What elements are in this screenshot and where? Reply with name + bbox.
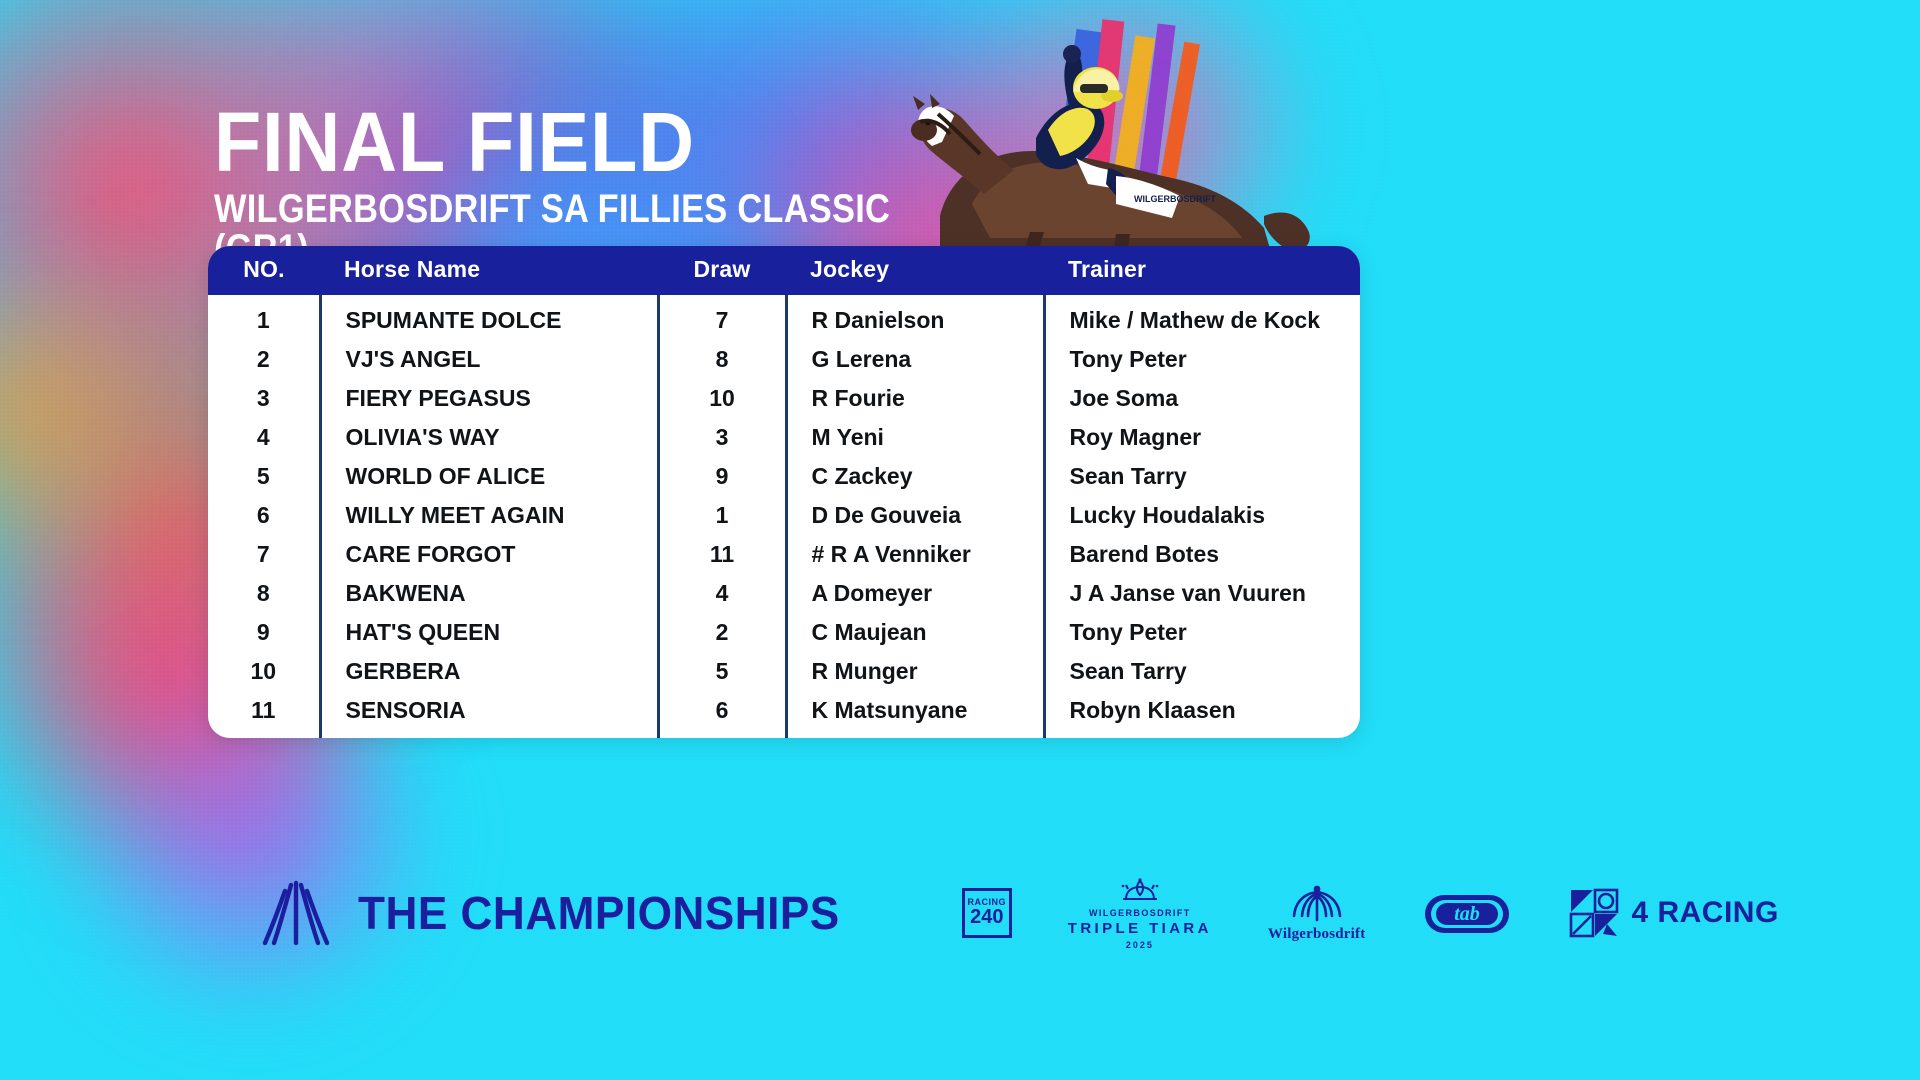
racing240-number-label: 240 bbox=[970, 907, 1003, 928]
cell-trainer: Tony Peter bbox=[1044, 613, 1360, 652]
cell-no: 10 bbox=[208, 652, 320, 691]
cell-jockey: C Zackey bbox=[786, 457, 1044, 496]
championships-logo: THE CHAMPIONSHIPS bbox=[258, 877, 860, 949]
poster-stage: WILGERBOSDRIFT FINAL FIELD WILGERBOSDRIF… bbox=[0, 0, 1920, 1080]
cell-horse: WORLD OF ALICE bbox=[320, 457, 658, 496]
cell-draw: 11 bbox=[658, 535, 786, 574]
cell-horse: WILLY MEET AGAIN bbox=[320, 496, 658, 535]
column-header-horse: Horse Name bbox=[320, 246, 658, 295]
triple-tiara-year-label: 2025 bbox=[1126, 940, 1154, 950]
cell-draw: 2 bbox=[658, 613, 786, 652]
championships-label: THE CHAMPIONSHIPS bbox=[358, 886, 840, 940]
sponsor-tab: tab bbox=[1421, 887, 1513, 939]
cell-draw: 9 bbox=[658, 457, 786, 496]
sponsor-logos: RACING 240 WILGERBOS bbox=[962, 877, 1779, 950]
table-row: 2VJ'S ANGEL8G LerenaTony Peter bbox=[208, 340, 1360, 379]
column-header-trainer: Trainer bbox=[1044, 246, 1360, 295]
tab-logo-icon: tab bbox=[1421, 887, 1513, 939]
cell-draw: 1 bbox=[658, 496, 786, 535]
cell-jockey: R Danielson bbox=[786, 295, 1044, 340]
sponsor-triple-tiara: WILGERBOSDRIFT TRIPLE TIARA 2025 bbox=[1068, 877, 1212, 950]
table-row: 1SPUMANTE DOLCE7R DanielsonMike / Mathew… bbox=[208, 295, 1360, 340]
cell-draw: 10 bbox=[658, 379, 786, 418]
cell-no: 4 bbox=[208, 418, 320, 457]
sponsor-4racing: 4 RACING bbox=[1569, 888, 1778, 938]
cell-trainer: Roy Magner bbox=[1044, 418, 1360, 457]
cell-trainer: J A Janse van Vuuren bbox=[1044, 574, 1360, 613]
cell-jockey: R Fourie bbox=[786, 379, 1044, 418]
cell-no: 5 bbox=[208, 457, 320, 496]
cell-horse: SPUMANTE DOLCE bbox=[320, 295, 658, 340]
championships-mark-icon bbox=[258, 877, 334, 949]
table-row: 8BAKWENA4A DomeyerJ A Janse van Vuuren bbox=[208, 574, 1360, 613]
cell-jockey: M Yeni bbox=[786, 418, 1044, 457]
four-racing-mark-icon bbox=[1569, 888, 1619, 938]
wilgerbosdrift-tree-icon bbox=[1290, 884, 1344, 924]
table-row: 9HAT'S QUEEN2C MaujeanTony Peter bbox=[208, 613, 1360, 652]
cell-horse: SENSORIA bbox=[320, 691, 658, 738]
wilgerbosdrift-label: Wilgerbosdrift bbox=[1268, 926, 1366, 943]
table-body: 1SPUMANTE DOLCE7R DanielsonMike / Mathew… bbox=[208, 295, 1360, 738]
cell-trainer: Tony Peter bbox=[1044, 340, 1360, 379]
cell-no: 3 bbox=[208, 379, 320, 418]
cell-jockey: A Domeyer bbox=[786, 574, 1044, 613]
cell-jockey: # R A Venniker bbox=[786, 535, 1044, 574]
cell-jockey: K Matsunyane bbox=[786, 691, 1044, 738]
column-header-draw: Draw bbox=[658, 246, 786, 295]
table-row: 6WILLY MEET AGAIN1D De GouveiaLucky Houd… bbox=[208, 496, 1360, 535]
heading-block: FINAL FIELD WILGERBOSDRIFT SA FILLIES CL… bbox=[214, 104, 1114, 269]
cell-draw: 4 bbox=[658, 574, 786, 613]
cell-trainer: Sean Tarry bbox=[1044, 457, 1360, 496]
table-row: 11SENSORIA6K MatsunyaneRobyn Klaasen bbox=[208, 691, 1360, 738]
cell-no: 2 bbox=[208, 340, 320, 379]
cell-horse: OLIVIA'S WAY bbox=[320, 418, 658, 457]
cell-draw: 8 bbox=[658, 340, 786, 379]
cell-trainer: Robyn Klaasen bbox=[1044, 691, 1360, 738]
column-header-no: NO. bbox=[208, 246, 320, 295]
cell-draw: 3 bbox=[658, 418, 786, 457]
page-title: FINAL FIELD bbox=[214, 104, 1042, 181]
table-header-row: NO. Horse Name Draw Jockey Trainer bbox=[208, 246, 1360, 295]
crown-icon bbox=[1114, 877, 1166, 905]
cell-trainer: Joe Soma bbox=[1044, 379, 1360, 418]
table-row: 3FIERY PEGASUS10R FourieJoe Soma bbox=[208, 379, 1360, 418]
cell-draw: 7 bbox=[658, 295, 786, 340]
four-racing-label: 4 RACING bbox=[1631, 896, 1778, 930]
cell-jockey: C Maujean bbox=[786, 613, 1044, 652]
footer-bar: THE CHAMPIONSHIPS RACING 240 bbox=[0, 838, 1920, 988]
table-header: NO. Horse Name Draw Jockey Trainer bbox=[208, 246, 1360, 295]
final-field-table: NO. Horse Name Draw Jockey Trainer 1SPUM… bbox=[208, 246, 1360, 738]
sponsor-wilgerbosdrift: Wilgerbosdrift bbox=[1268, 884, 1366, 943]
svg-text:WILGERBOSDRIFT: WILGERBOSDRIFT bbox=[1134, 194, 1216, 204]
table-row: 5WORLD OF ALICE9C ZackeySean Tarry bbox=[208, 457, 1360, 496]
column-header-jockey: Jockey bbox=[786, 246, 1044, 295]
cell-trainer: Barend Botes bbox=[1044, 535, 1360, 574]
cell-no: 1 bbox=[208, 295, 320, 340]
cell-horse: BAKWENA bbox=[320, 574, 658, 613]
cell-jockey: R Munger bbox=[786, 652, 1044, 691]
cell-horse: FIERY PEGASUS bbox=[320, 379, 658, 418]
cell-no: 8 bbox=[208, 574, 320, 613]
cell-horse: HAT'S QUEEN bbox=[320, 613, 658, 652]
cell-no: 6 bbox=[208, 496, 320, 535]
table-row: 10GERBERA5R MungerSean Tarry bbox=[208, 652, 1360, 691]
cell-draw: 5 bbox=[658, 652, 786, 691]
cell-trainer: Lucky Houdalakis bbox=[1044, 496, 1360, 535]
cell-no: 11 bbox=[208, 691, 320, 738]
cell-horse: GERBERA bbox=[320, 652, 658, 691]
cell-horse: VJ'S ANGEL bbox=[320, 340, 658, 379]
table-row: 7CARE FORGOT11# R A VennikerBarend Botes bbox=[208, 535, 1360, 574]
cell-jockey: D De Gouveia bbox=[786, 496, 1044, 535]
final-field-table-card: NO. Horse Name Draw Jockey Trainer 1SPUM… bbox=[208, 246, 1360, 738]
cell-jockey: G Lerena bbox=[786, 340, 1044, 379]
sponsor-racing240: RACING 240 bbox=[962, 888, 1012, 938]
cell-no: 9 bbox=[208, 613, 320, 652]
racing240-box-icon: RACING 240 bbox=[962, 888, 1012, 938]
cell-horse: CARE FORGOT bbox=[320, 535, 658, 574]
cell-no: 7 bbox=[208, 535, 320, 574]
cell-trainer: Mike / Mathew de Kock bbox=[1044, 295, 1360, 340]
triple-tiara-name-label: TRIPLE TIARA bbox=[1068, 920, 1212, 937]
cell-trainer: Sean Tarry bbox=[1044, 652, 1360, 691]
svg-text:tab: tab bbox=[1455, 903, 1481, 925]
triple-tiara-brand-label: WILGERBOSDRIFT bbox=[1089, 908, 1191, 918]
cell-draw: 6 bbox=[658, 691, 786, 738]
table-row: 4OLIVIA'S WAY3M YeniRoy Magner bbox=[208, 418, 1360, 457]
